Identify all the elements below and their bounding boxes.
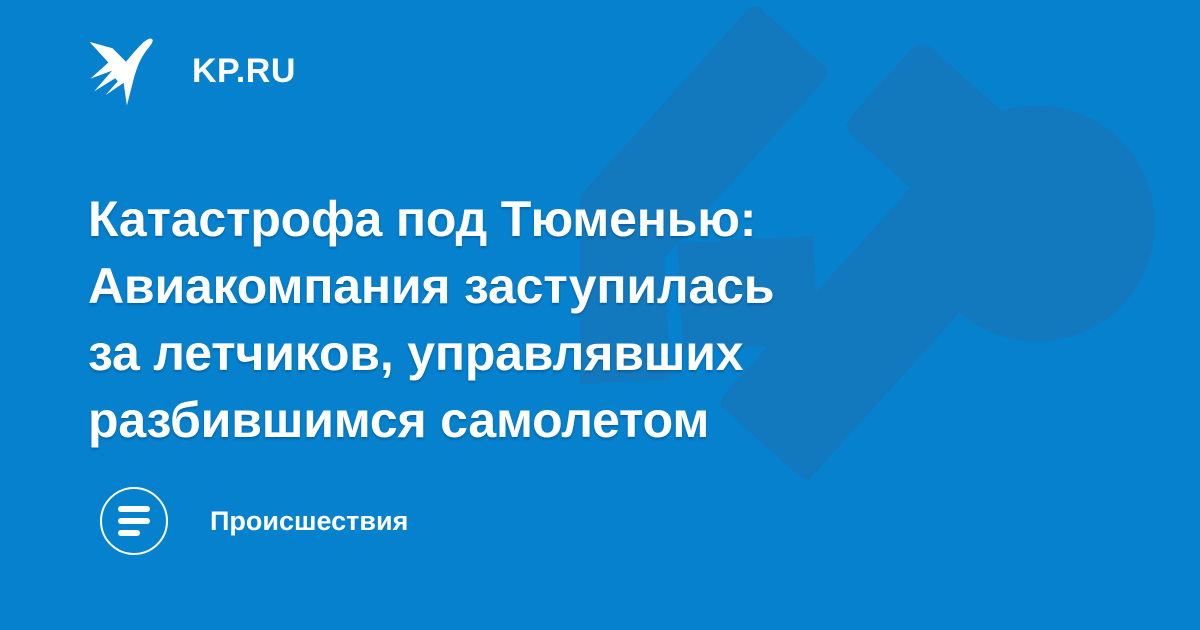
hamburger-menu-icon[interactable] [100, 487, 168, 555]
menu-bar-1 [118, 506, 150, 512]
swallow-bird-icon [88, 35, 156, 107]
category-label: Происшествия [210, 508, 408, 535]
menu-bar-3 [118, 530, 140, 536]
category-badge[interactable]: Происшествия [100, 487, 408, 555]
menu-bar-2 [118, 518, 150, 524]
page-title: Катастрофа под Тюменью: Авиакомпания зас… [88, 186, 898, 454]
social-share-card: KP.RU Катастрофа под Тюменью: Авиакомпан… [0, 0, 1200, 630]
brand-header[interactable]: KP.RU [88, 34, 296, 108]
brand-name: KP.RU [192, 54, 296, 88]
